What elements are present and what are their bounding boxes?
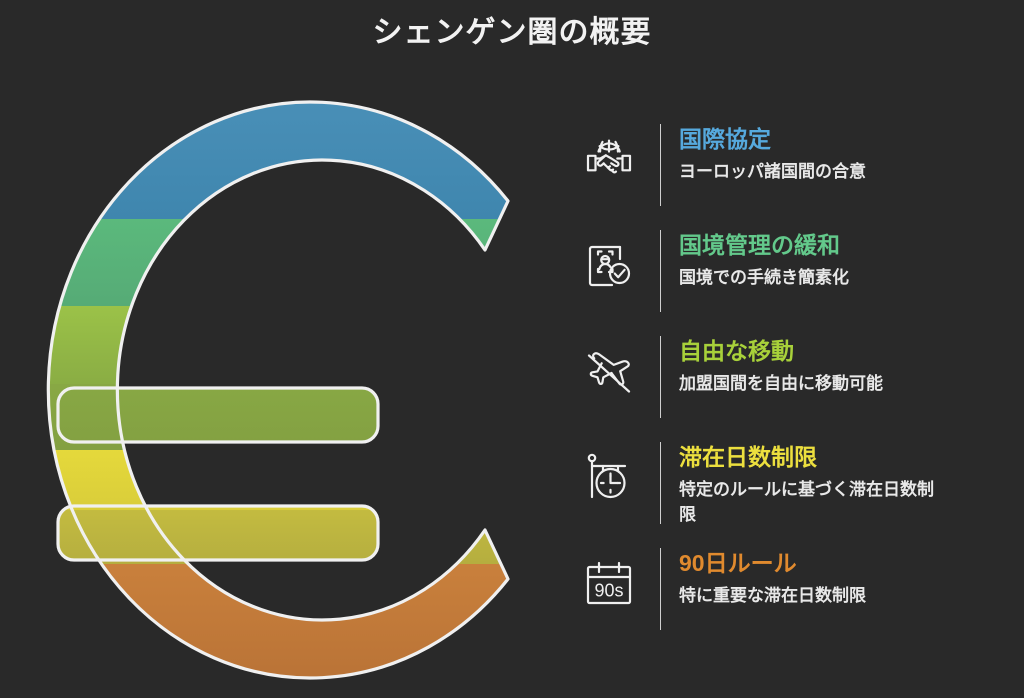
feature-item-stay-day-limit[interactable]: 滞在日数制限 特定のルールに基づく滞在日数制限: [570, 438, 1010, 530]
feature-text: 自由な移動 加盟国間を自由に移動可能: [679, 332, 1010, 396]
feature-description: ヨーロッパ諸国間の合意: [679, 159, 947, 184]
feature-heading: 国際協定: [679, 122, 1010, 156]
calendar-90s-icon: 90s: [570, 544, 648, 624]
feature-item-border-control[interactable]: 国境管理の緩和 国境での手続き簡素化: [570, 226, 1010, 318]
feature-heading: 滞在日数制限: [679, 440, 1010, 474]
feature-divider: [660, 548, 661, 630]
infographic-page: シェンゲン圏の概要: [0, 0, 1024, 698]
feature-heading: 90日ルール: [679, 546, 1010, 580]
feature-description: 加盟国間を自由に移動可能: [679, 371, 947, 396]
feature-description: 特に重要な滞在日数制限: [679, 583, 947, 608]
feature-item-free-movement[interactable]: 自由な移動 加盟国間を自由に移動可能: [570, 332, 1010, 424]
feature-divider: [660, 336, 661, 418]
page-title: シェンゲン圏の概要: [0, 12, 1024, 54]
feature-description: 特定のルールに基づく滞在日数制限: [679, 477, 947, 527]
feature-divider: [660, 230, 661, 312]
airplane-icon: [570, 332, 648, 412]
euro-currency-symbol-icon: [30, 90, 550, 690]
feature-divider: [660, 442, 661, 524]
feature-text: 国際協定 ヨーロッパ諸国間の合意: [679, 120, 1010, 184]
feature-heading: 自由な移動: [679, 334, 1010, 368]
feature-item-90-day-rule[interactable]: 90s 90日ルール 特に重要な滞在日数制限: [570, 544, 1010, 636]
hanging-clock-icon: [570, 438, 648, 518]
id-document-face-scan-check-icon: [570, 226, 648, 306]
feature-item-international-agreement[interactable]: 国際協定 ヨーロッパ諸国間の合意: [570, 120, 1010, 212]
feature-heading: 国境管理の緩和: [679, 228, 1010, 262]
feature-divider: [660, 124, 661, 206]
feature-text: 国境管理の緩和 国境での手続き簡素化: [679, 226, 1010, 290]
handshake-globe-icon: [570, 120, 648, 200]
euro-symbol-graphic: [30, 90, 550, 690]
feature-text: 滞在日数制限 特定のルールに基づく滞在日数制限: [679, 438, 1010, 527]
feature-text: 90日ルール 特に重要な滞在日数制限: [679, 544, 1010, 608]
feature-description: 国境での手続き簡素化: [679, 265, 947, 290]
calendar-90s-label: 90s: [594, 581, 623, 601]
feature-list: 国際協定 ヨーロッパ諸国間の合意: [570, 120, 1010, 650]
